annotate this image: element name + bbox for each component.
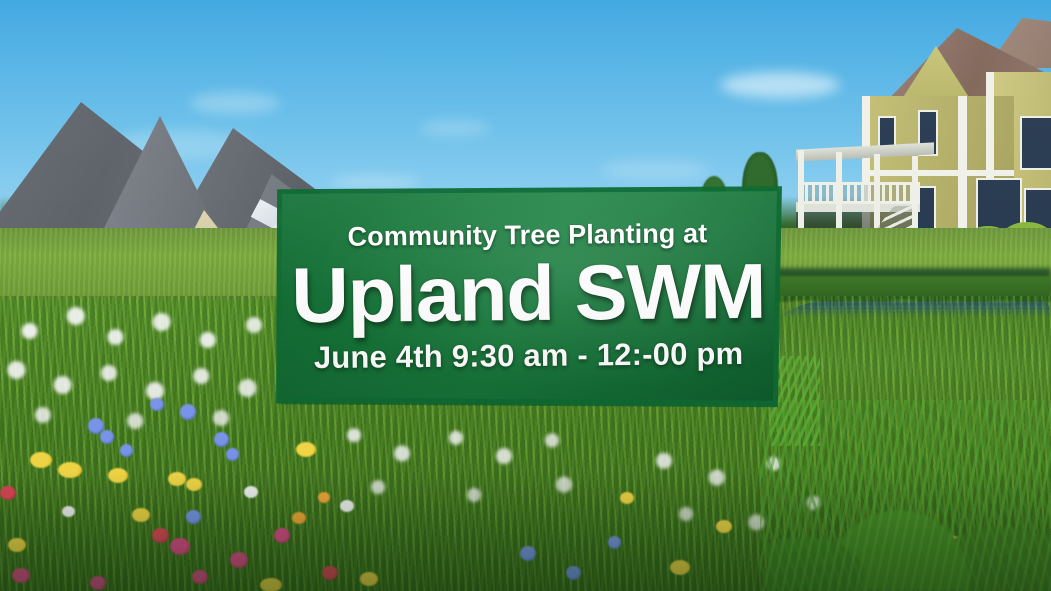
blue-flower — [226, 448, 239, 461]
blue-flower — [150, 398, 164, 411]
right-house — [800, 10, 1051, 260]
window — [976, 178, 1022, 230]
event-banner: Community Tree Planting at Upland SWM Ju… — [272, 184, 784, 410]
porch-railing — [798, 182, 920, 204]
blue-flower — [120, 444, 133, 457]
foreground-shadow — [0, 470, 1051, 591]
blue-flower — [214, 432, 229, 447]
blue-flower — [180, 404, 196, 420]
yellow-flower — [296, 442, 316, 457]
event-poster: Community Tree Planting at Upland SWM Ju… — [0, 0, 1051, 591]
cloud — [600, 160, 710, 180]
event-datetime: June 4th 9:30 am - 12:-00 pm — [314, 336, 744, 376]
event-headline: Upland SWM — [291, 253, 766, 334]
cloud — [420, 120, 490, 136]
window — [1020, 116, 1051, 170]
blue-flower — [100, 430, 114, 444]
banner-text-block: Community Tree Planting at Upland SWM Ju… — [271, 182, 785, 413]
yellow-flower — [30, 452, 52, 468]
